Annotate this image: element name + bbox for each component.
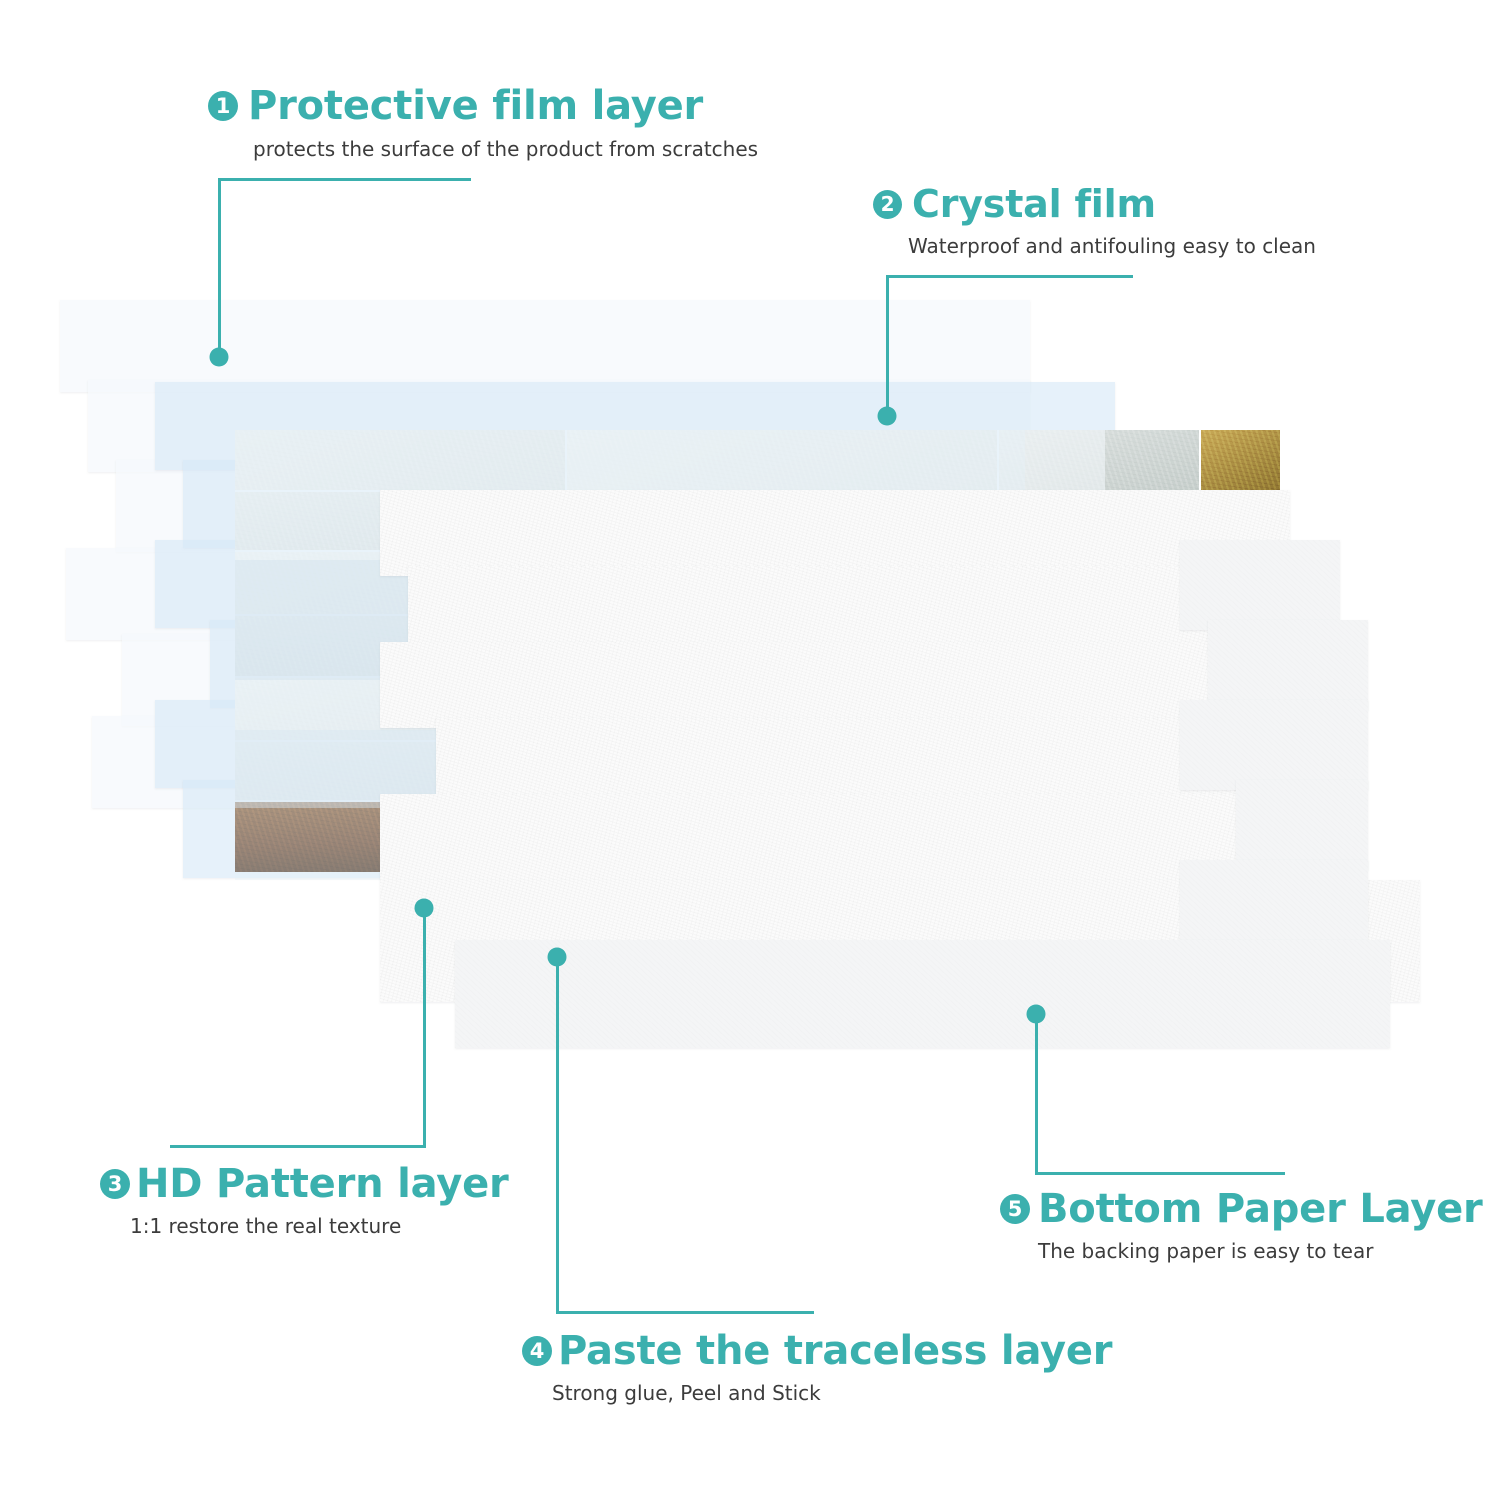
callout-1-number: 1 xyxy=(208,91,238,121)
callout-4-subtitle: Strong glue, Peel and Stick xyxy=(552,1381,1112,1405)
diagram-canvas: 1 Protective film layer protects the sur… xyxy=(0,0,1500,1500)
callout-4-number: 4 xyxy=(522,1336,552,1366)
callout-3-number: 3 xyxy=(100,1169,130,1199)
callout-traceless-glue: 4 Paste the traceless layer Strong glue,… xyxy=(522,1330,1112,1405)
callout-1-subtitle: protects the surface of the product from… xyxy=(253,137,758,161)
callout-hd-pattern: 3 HD Pattern layer 1:1 restore the real … xyxy=(100,1163,509,1238)
callout-4-title: 4 Paste the traceless layer xyxy=(522,1330,1112,1372)
callout-2-number: 2 xyxy=(873,190,902,219)
callout-5-number: 5 xyxy=(1000,1194,1030,1224)
callout-5-title-text: Bottom Paper Layer xyxy=(1038,1188,1483,1230)
callout-1-title-text: Protective film layer xyxy=(248,85,703,127)
callout-5-title: 5 Bottom Paper Layer xyxy=(1000,1188,1483,1230)
callout-5-subtitle: The backing paper is easy to tear xyxy=(1038,1239,1483,1263)
callout-2-subtitle: Waterproof and antifouling easy to clean xyxy=(908,234,1316,258)
callout-2-title-text: Crystal film xyxy=(912,185,1156,225)
callout-protective-film: 1 Protective film layer protects the sur… xyxy=(208,85,758,161)
callout-bottom-paper: 5 Bottom Paper Layer The backing paper i… xyxy=(1000,1188,1483,1263)
callout-1-title: 1 Protective film layer xyxy=(208,85,758,127)
callout-2-title: 2 Crystal film xyxy=(873,185,1316,225)
callout-3-title: 3 HD Pattern layer xyxy=(100,1163,509,1205)
callout-3-title-text: HD Pattern layer xyxy=(136,1163,509,1205)
callout-3-subtitle: 1:1 restore the real texture xyxy=(130,1214,509,1238)
callout-crystal-film: 2 Crystal film Waterproof and antifoulin… xyxy=(873,185,1316,258)
callout-4-title-text: Paste the traceless layer xyxy=(558,1330,1112,1372)
